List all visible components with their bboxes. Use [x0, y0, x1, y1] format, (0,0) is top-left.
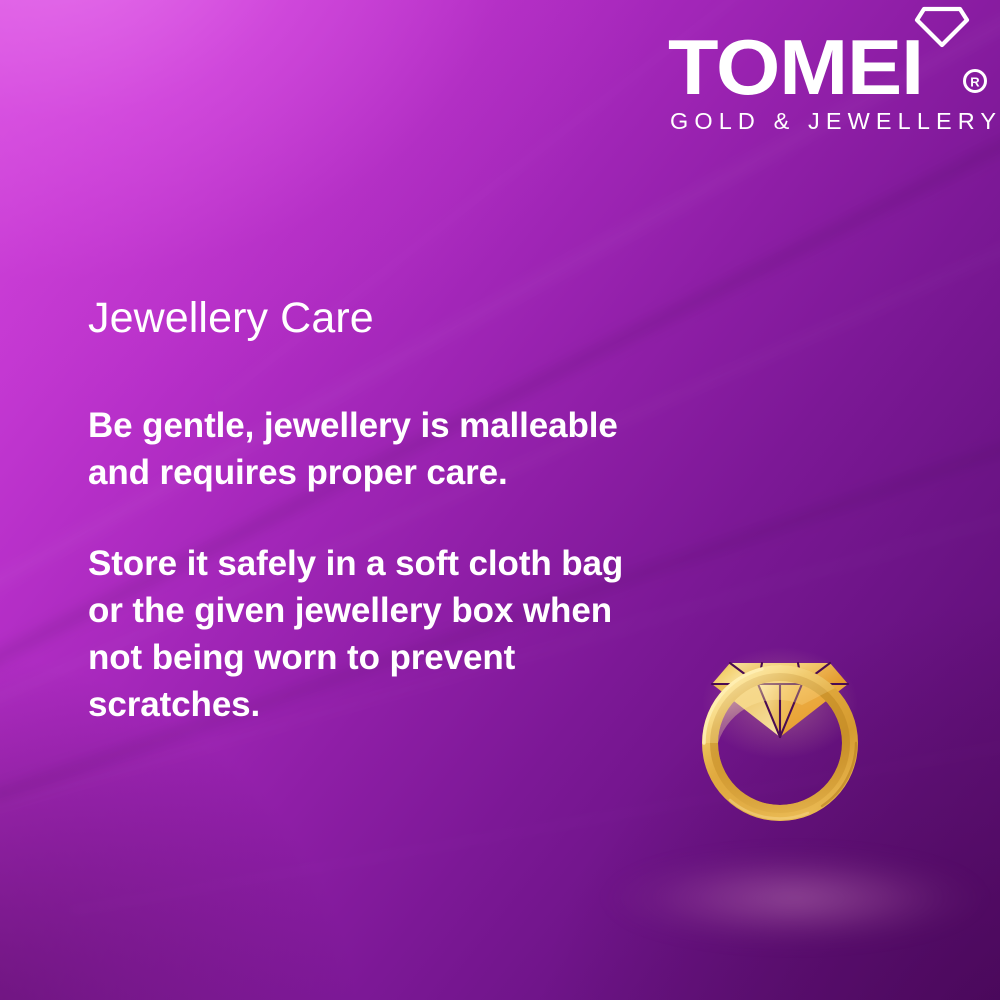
care-paragraph-2: Store it safely in a soft cloth bag or t…	[88, 540, 633, 728]
care-text-block: Jewellery Care Be gentle, jewellery is m…	[88, 292, 648, 728]
page-title: Jewellery Care	[88, 292, 648, 344]
registered-trademark-icon: R	[962, 68, 988, 94]
svg-text:R: R	[970, 74, 980, 89]
poster-canvas: TOMEI R GOLD & JEWELLERY Jewellery Care …	[0, 0, 1000, 1000]
tomei-logo: TOMEI R GOLD & JEWELLERY	[668, 6, 986, 140]
diamond-ring-illustration	[690, 645, 890, 905]
brand-name: TOMEI	[668, 28, 923, 106]
brand-tagline: GOLD & JEWELLERY	[670, 110, 1000, 133]
care-paragraph-1: Be gentle, jewellery is malleable and re…	[88, 402, 633, 496]
